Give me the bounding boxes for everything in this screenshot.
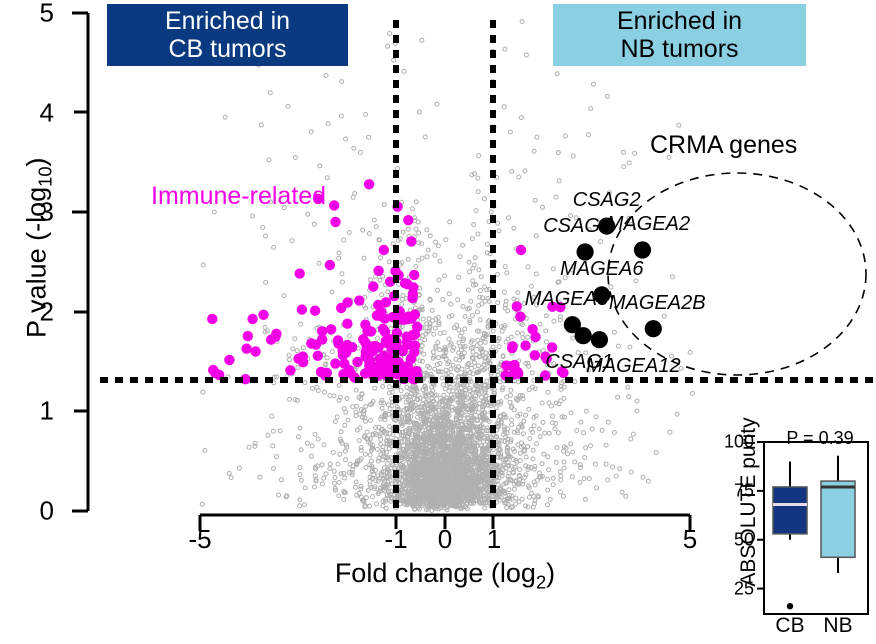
crma-dot-magea12 [591, 331, 608, 348]
y-axis [72, 13, 88, 511]
inset-panel: P = 0.39 ABSOLUTE purity 255075100 CBNB [716, 428, 876, 644]
inset-ytick-100: 100 [712, 432, 754, 453]
nb-header-line2: NB tumors [620, 35, 738, 63]
x-tick-0: 0 [438, 524, 452, 555]
crma-label-magea3: MAGEA3 [525, 288, 608, 311]
immune-related-label: Immune-related [151, 182, 326, 211]
x-tick--5: -5 [188, 524, 211, 555]
inset-category-nb: NB [823, 614, 852, 638]
inset-category-cb: CB [775, 614, 804, 638]
y-tick-3: 3 [14, 197, 54, 228]
inset-ytick-75: 75 [712, 480, 754, 501]
cb-header-line1: Enriched in [165, 7, 290, 35]
x-tick--1: -1 [384, 524, 407, 555]
crma-label-csag3: CSAG3 [543, 215, 611, 238]
crma-dot-magea2b [645, 320, 662, 337]
nb-header-box: Enriched in NB tumors [553, 4, 806, 66]
y-tick-5: 5 [14, 0, 54, 29]
x-tick-1: 1 [487, 524, 501, 555]
y-axis-label: P value (-log10) [21, 113, 56, 383]
x-axis-label: Fold change (log2) [190, 558, 700, 593]
y-tick-1: 1 [14, 396, 54, 427]
y-tick-2: 2 [14, 296, 54, 327]
x-tick-5: 5 [683, 524, 697, 555]
crma-cluster-ellipse [608, 173, 866, 375]
y-tick-0: 0 [14, 496, 54, 527]
crma-label-magea12: MAGEA12 [586, 355, 680, 378]
crma-label-magea6: MAGEA6 [560, 258, 643, 281]
inset-pvalue-label: P = 0.39 [764, 428, 876, 449]
cb-header-line2: CB tumors [168, 35, 286, 63]
inset-ytick-50: 50 [712, 529, 754, 550]
crma-label-csag2: CSAG2 [573, 189, 641, 212]
nb-header-line1: Enriched in [617, 7, 742, 35]
crma-label-magea2b: MAGEA2B [609, 292, 706, 315]
crma-dot-magea2 [634, 241, 651, 258]
cb-header-box: Enriched in CB tumors [107, 4, 348, 66]
y-tick-4: 4 [14, 97, 54, 128]
crma-genes-label: CRMA genes [650, 131, 797, 160]
crma-label-magea2: MAGEA2 [607, 213, 690, 236]
crma-dot-csag1 [575, 327, 592, 344]
inset-ytick-25: 25 [712, 578, 754, 599]
